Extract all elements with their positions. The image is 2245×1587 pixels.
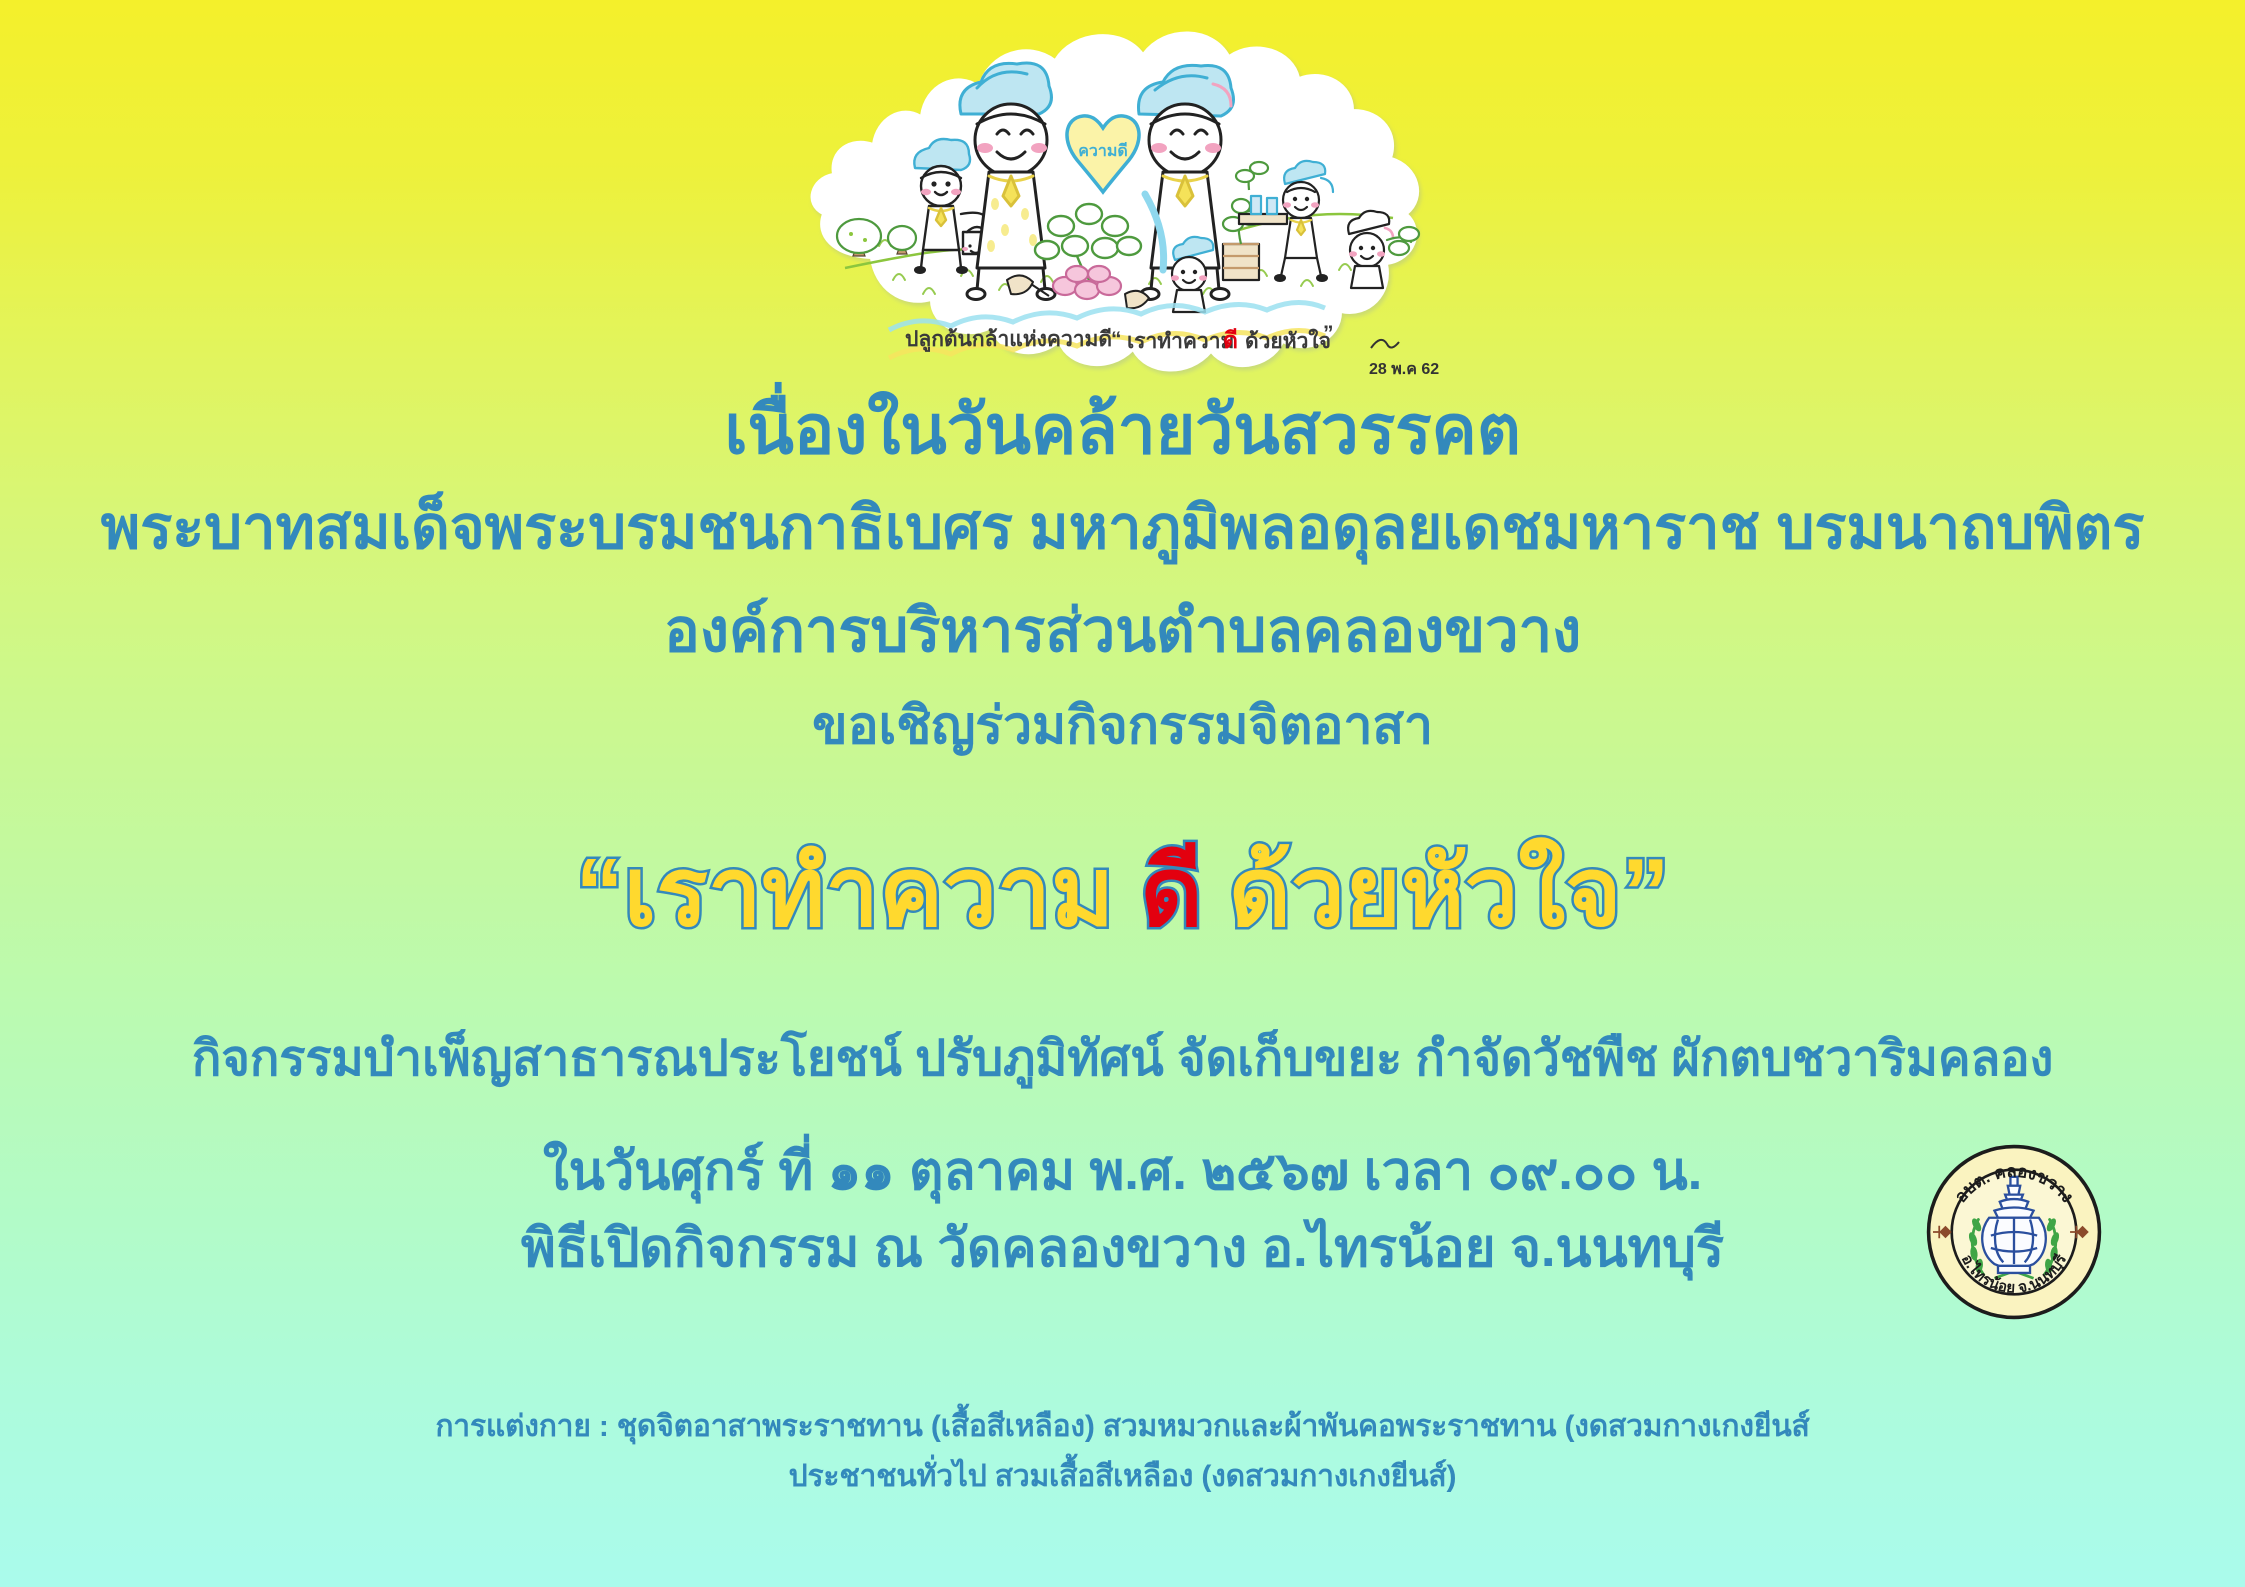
official-seal-logo: อบต. คลองขวาง อ.ไทรน้อย จ.นนทบุรี bbox=[1925, 1143, 2103, 1321]
heart-label: ความดี bbox=[1078, 141, 1128, 160]
volunteer-illustration: ความดี bbox=[793, 18, 1453, 390]
illustration-caption-quote-close: ” bbox=[1323, 322, 1334, 345]
illustration-caption-right-2: ด้วยหัวใจ bbox=[1245, 328, 1331, 353]
venue-text: พิธีเปิดกิจกรรม ณ วัดคลองขวาง อ.ไทรน้อย … bbox=[0, 1222, 2245, 1276]
illustration-signature-date: 28 พ.ค 62 bbox=[1369, 361, 1439, 378]
slogan-part-1: เราทำความ bbox=[624, 839, 1115, 946]
activities-text: กิจกรรมบำเพ็ญสาธารณประโยชน์ ปรับภูมิทัศน… bbox=[0, 1035, 2245, 1085]
slogan: “เราทำความดีด้วยหัวใจ” bbox=[0, 843, 2245, 944]
slogan-quote-open: “ bbox=[576, 839, 624, 946]
slogan-highlight-good: ดี bbox=[1140, 839, 1202, 946]
slogan-part-2: ด้วยหัวใจ bbox=[1229, 839, 1622, 946]
illustration-caption-quote-open: “ bbox=[1111, 328, 1122, 351]
poster-canvas: ความดี bbox=[0, 0, 2245, 1587]
slogan-quote-close: ” bbox=[1621, 839, 1669, 946]
datetime-text: ในวันศุกร์ ที่ ๑๑ ตุลาคม พ.ศ. ๒๕๖๗ เวลา … bbox=[0, 1145, 2245, 1199]
organization-name: องค์การบริหารส่วนตำบลคลองขวาง bbox=[0, 600, 2245, 661]
headline-line-1: เนื่องในวันคล้ายวันสวรรคต bbox=[0, 396, 2245, 465]
headline-line-2: พระบาทสมเด็จพระบรมชนกาธิเบศร มหาภูมิพลอด… bbox=[0, 497, 2245, 558]
illustration-caption-good: ดี bbox=[1223, 327, 1238, 353]
illustration-caption-right-1: เราทำความ bbox=[1127, 330, 1234, 353]
invitation-text: ขอเชิญร่วมกิจกรรมจิตอาสา bbox=[0, 700, 2245, 753]
dress-code-line-2: ประชาชนทั่วไป สวมเสื้อสีเหลือง (งดสวมกาง… bbox=[0, 1462, 2245, 1493]
illustration-caption-left: ปลูกต้นกล้าแห่งความดี bbox=[905, 327, 1112, 353]
dress-code-line-1: การแต่งกาย : ชุดจิตอาสาพระราชทาน (เสื้อส… bbox=[0, 1412, 2245, 1443]
